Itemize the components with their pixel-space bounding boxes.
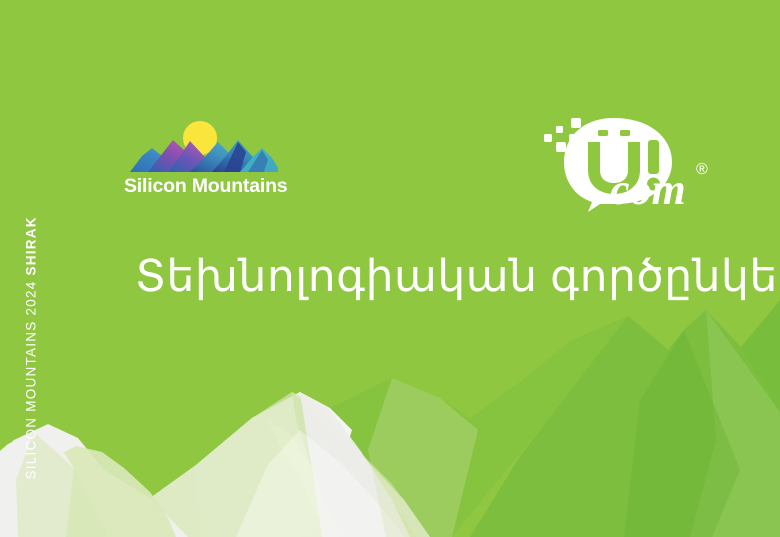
registered-mark-icon: ®: [696, 161, 708, 178]
slide-canvas: SILICON MOUNTAINS 2024 SHIRAK: [0, 0, 780, 537]
ucom-logo-icon: com ®: [538, 112, 718, 212]
vertical-event-label: SILICON MOUNTAINS 2024 SHIRAK: [25, 216, 39, 479]
peak-right-white: [300, 392, 410, 537]
veil-right-pale: [368, 378, 478, 537]
silicon-mountains-logo: Silicon Mountains: [124, 116, 304, 197]
ridge-mid-green: [180, 316, 628, 537]
ucom-logo: com ®: [538, 112, 718, 212]
ridge-center-pale-sheet: [150, 392, 416, 537]
ridge-center-white: [0, 392, 430, 537]
ridge-center-pale-wedge: [292, 392, 430, 537]
silicon-mountains-wordmark: Silicon Mountains: [124, 176, 304, 197]
ucom-com-text: com: [610, 165, 686, 212]
ridge-right-sheen: [690, 310, 780, 537]
side-label-regular: SILICON MOUNTAINS 2024: [24, 275, 39, 479]
ridge-right-main: [470, 310, 780, 537]
sheet-bottom-center: [236, 430, 404, 537]
ridge-right-dark: [640, 300, 780, 537]
peak-center-white: [196, 392, 352, 537]
silicon-mountains-icon: [128, 116, 278, 172]
peak-sharp-white: [268, 420, 326, 520]
side-label-bold: SHIRAK: [24, 216, 39, 275]
ridge-right-shadow: [624, 330, 740, 537]
page-title: Տեխնոլոգիական գործընկեր: [135, 252, 780, 301]
